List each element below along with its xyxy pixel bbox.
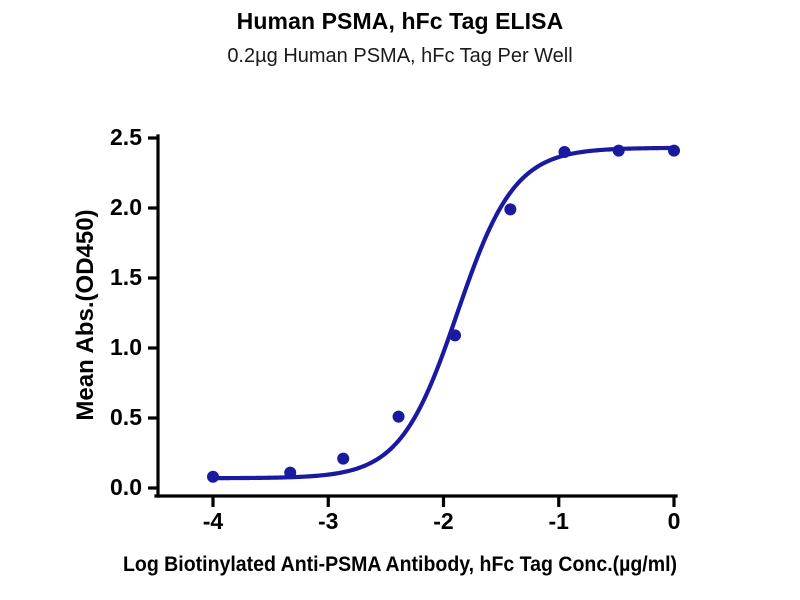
- data-point: [504, 203, 516, 215]
- data-point-group: [207, 145, 680, 483]
- x-tick-group: -4-3-2-10: [203, 496, 681, 534]
- y-tick-label: 2.5: [110, 124, 142, 150]
- data-point: [668, 145, 680, 157]
- data-point: [613, 145, 625, 157]
- x-tick-label: -3: [318, 508, 338, 534]
- axes: [156, 136, 676, 496]
- y-tick-group: 0.00.51.01.52.02.5: [110, 124, 158, 500]
- x-tick-label: -2: [433, 508, 453, 534]
- chart-figure: Human PSMA, hFc Tag ELISA 0.2µg Human PS…: [0, 0, 800, 600]
- x-tick-label: -1: [549, 508, 570, 534]
- plot-area: Mean Abs.(OD450) 0.00.51.01.52.02.5 -4-3…: [0, 0, 800, 600]
- x-tick-label: -4: [203, 508, 224, 534]
- y-axis-title: Mean Abs.(OD450): [72, 209, 99, 420]
- data-point: [284, 467, 296, 479]
- y-tick-label: 1.5: [110, 264, 142, 290]
- x-tick-label: 0: [668, 508, 681, 534]
- data-point: [559, 146, 571, 158]
- y-tick-label: 1.0: [110, 334, 142, 360]
- data-point: [393, 411, 405, 423]
- y-tick-label: 0.5: [110, 404, 142, 430]
- y-tick-label: 0.0: [110, 474, 142, 500]
- y-tick-label: 2.0: [110, 194, 142, 220]
- x-axis-label: Log Biotinylated Anti-PSMA Antibody, hFc…: [28, 553, 772, 577]
- data-point: [207, 471, 219, 483]
- data-point: [337, 453, 349, 465]
- data-point: [449, 329, 461, 341]
- fit-curve: [213, 148, 674, 478]
- y-axis-title-text: Mean Abs.(OD450): [72, 209, 99, 420]
